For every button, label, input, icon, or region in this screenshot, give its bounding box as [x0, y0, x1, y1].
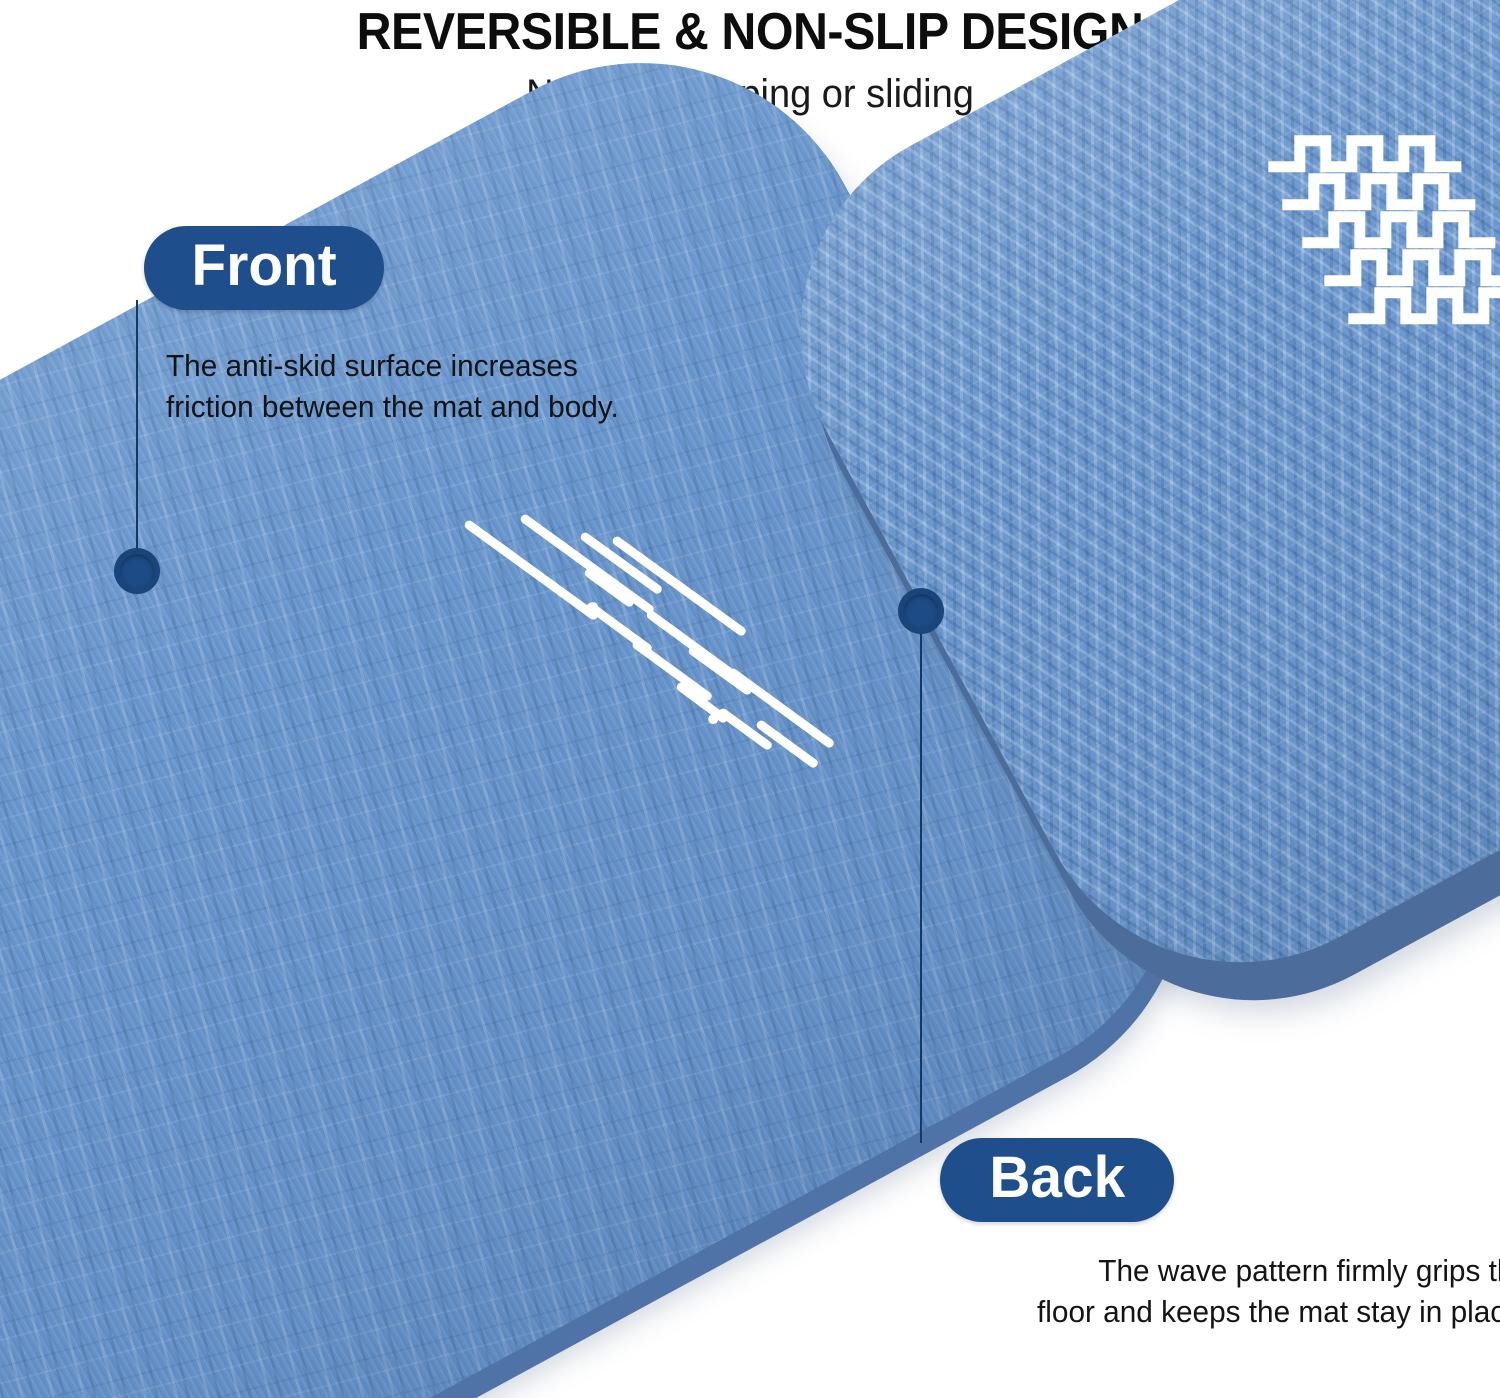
front-description-line-2: friction between the mat and body.: [166, 386, 761, 427]
back-description: The wave pattern firmly grips the floor …: [954, 1250, 1500, 1332]
back-callout-dot[interactable]: [898, 588, 944, 634]
back-description-line-2: floor and keeps the mat stay in place.: [954, 1291, 1500, 1332]
back-leader-line: [920, 618, 922, 1143]
front-callout-dot[interactable]: [114, 548, 160, 594]
front-description-line-1: The anti-skid surface increases: [166, 345, 761, 386]
badge-front[interactable]: Front: [144, 226, 384, 310]
product-illustration: [0, 0, 1500, 1398]
badge-front-label: Front: [191, 232, 336, 299]
badge-back[interactable]: Back: [940, 1138, 1174, 1222]
diagonal-speed-lines-logo-icon: [461, 511, 881, 771]
back-description-line-1: The wave pattern firmly grips the: [954, 1250, 1500, 1291]
front-leader-line: [136, 300, 138, 572]
product-feature-panel: REVERSIBLE & NON-SLIP DESIGN No more sli…: [0, 0, 1500, 1398]
front-description: The anti-skid surface increases friction…: [166, 345, 761, 427]
zigzag-wave-grip-logo-icon: [1270, 101, 1500, 341]
badge-back-label: Back: [989, 1144, 1125, 1211]
